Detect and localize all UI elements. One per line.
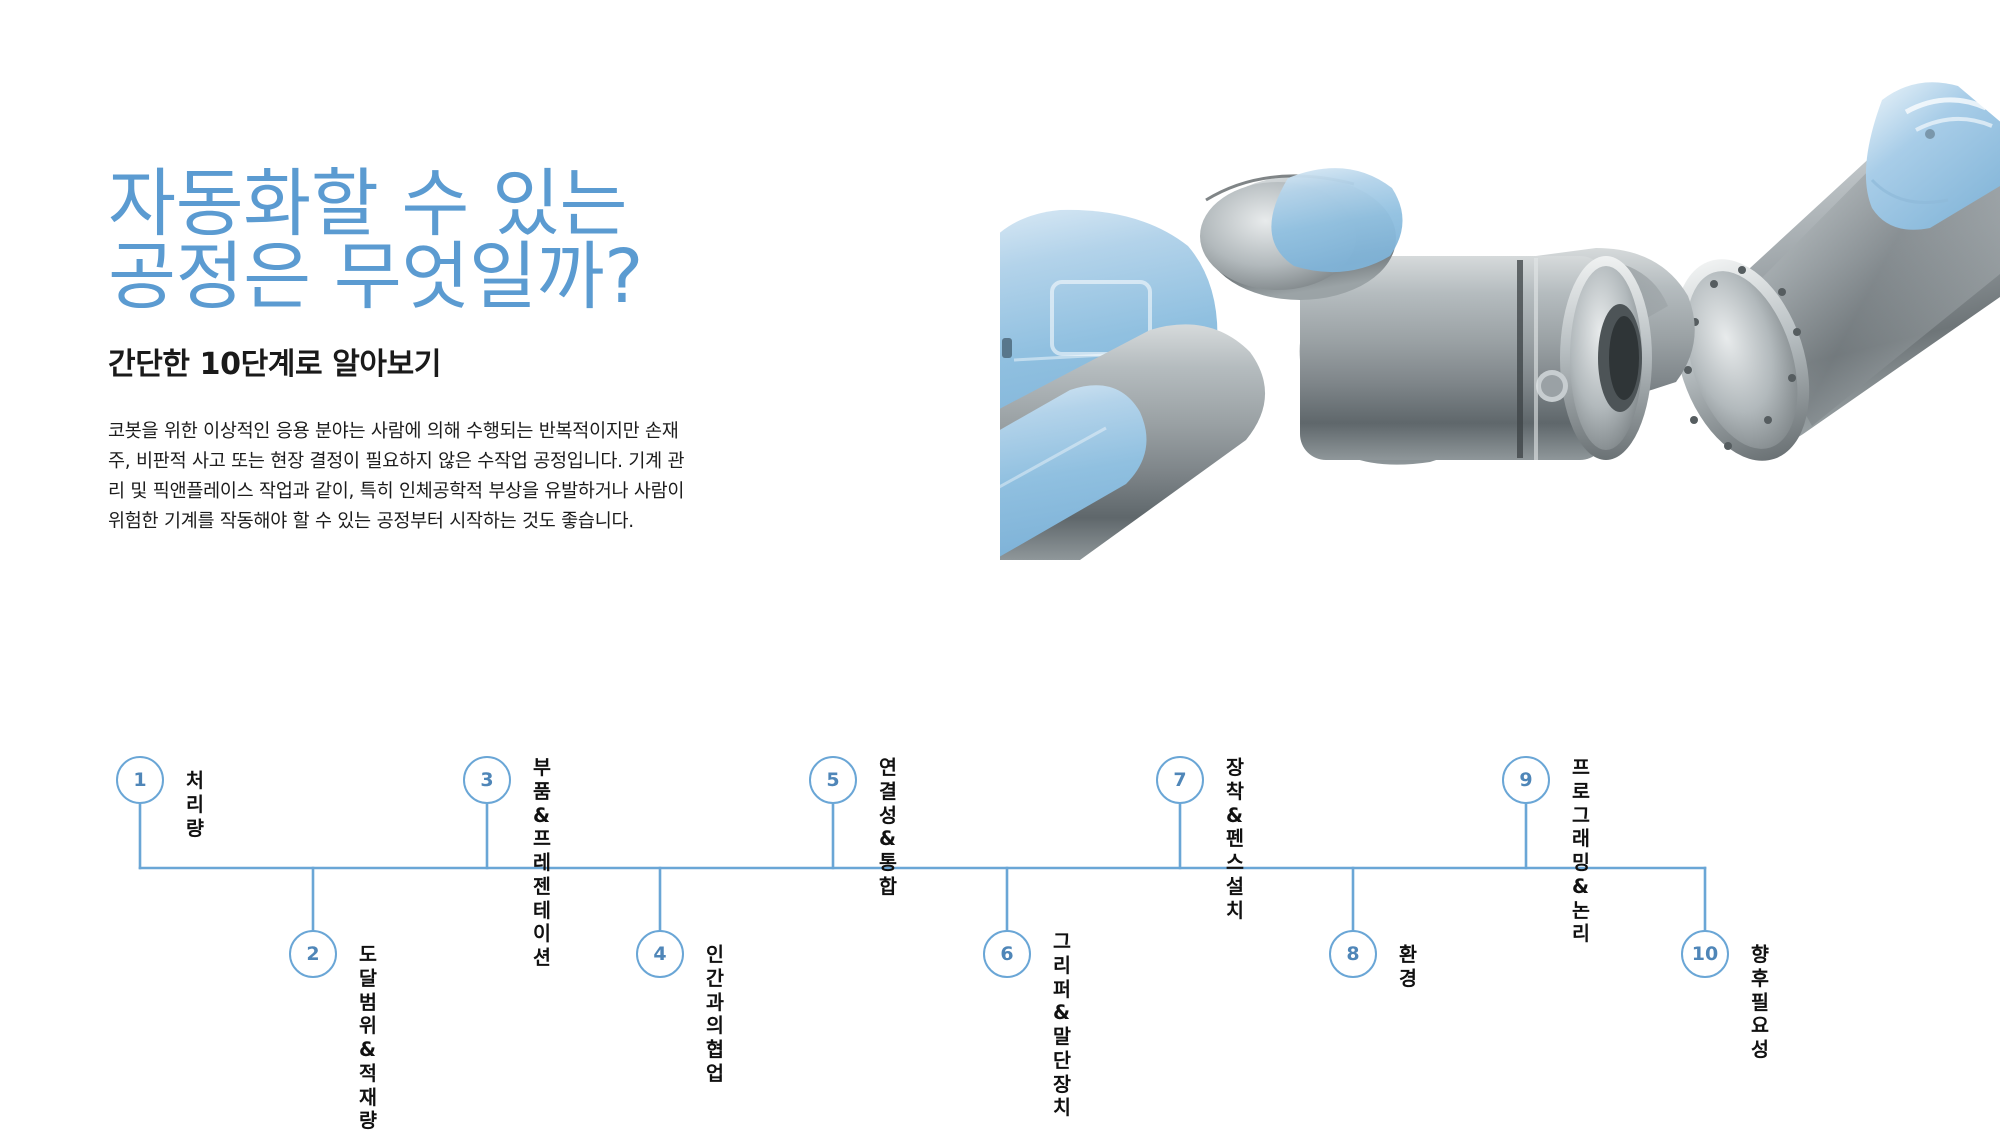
step-number-10[interactable]: 10	[1681, 930, 1729, 978]
intro-paragraph: 코봇을 위한 이상적인 응용 분야는 사람에 의해 수행되는 반복적이지만 손재…	[108, 417, 826, 537]
page-subtitle: 간단한 10단계로 알아보기	[108, 339, 928, 383]
step-number-6[interactable]: 6	[983, 930, 1031, 978]
step-number-9[interactable]: 9	[1502, 756, 1550, 804]
step-label-3: 부품 & 프레젠테이션	[533, 756, 551, 970]
step-number-8[interactable]: 8	[1329, 930, 1377, 978]
step-label-2: 도달 범위 & 적재량	[359, 943, 377, 1133]
step-number-1[interactable]: 1	[116, 756, 164, 804]
timeline-connector-rails	[0, 700, 2000, 1060]
step-number-7[interactable]: 7	[1156, 756, 1204, 804]
step-label-5: 연결성 & 통합	[879, 756, 897, 899]
step-label-1: 처리량	[186, 769, 204, 840]
step-label-9: 프로그래밍 & 논리	[1572, 756, 1590, 946]
step-number-4[interactable]: 4	[636, 930, 684, 978]
step-label-8: 환경	[1399, 943, 1417, 991]
step-label-4: 인간과의 협업	[706, 943, 724, 1086]
robot-joint-cap-top-center	[1271, 168, 1402, 272]
step-number-2[interactable]: 2	[289, 930, 337, 978]
headline-block: 자동화할 수 있는 공정은 무엇일까? 간단한 10단계로 알아보기 코봇을 위…	[108, 168, 928, 537]
robot-arm-illustration	[1000, 60, 2000, 560]
step-label-7: 장착 & 펜스 설치	[1226, 756, 1244, 922]
process-timeline: 1 처리량 3 부품 & 프레젠테이션 5 연결성 & 통합 7 장착 & 펜스…	[0, 700, 2000, 1060]
robot-arm-image	[1000, 60, 2000, 560]
step-label-10: 향후 필요성	[1751, 943, 1769, 1062]
step-number-3[interactable]: 3	[463, 756, 511, 804]
step-number-5[interactable]: 5	[809, 756, 857, 804]
slide-canvas: 자동화할 수 있는 공정은 무엇일까? 간단한 10단계로 알아보기 코봇을 위…	[0, 0, 2000, 1124]
page-title: 자동화할 수 있는 공정은 무엇일까?	[108, 168, 928, 313]
step-label-6: 그리퍼 & 말단장치	[1053, 930, 1071, 1120]
